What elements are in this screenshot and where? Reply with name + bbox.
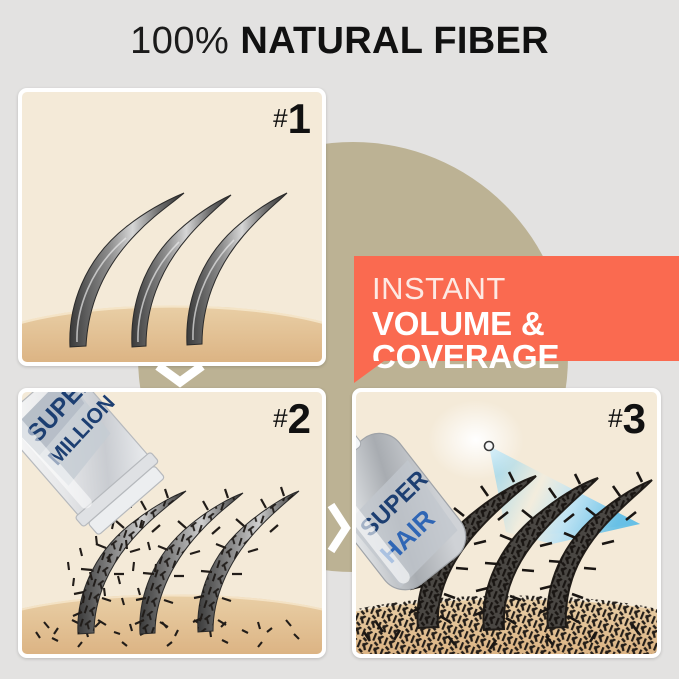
page-title: 100% NATURAL FIBER bbox=[0, 22, 679, 60]
nozzle-orifice bbox=[485, 442, 494, 451]
callout-banner-tail bbox=[354, 361, 384, 383]
title-main: NATURAL FIBER bbox=[240, 20, 549, 62]
chevron-down-icon bbox=[152, 362, 208, 388]
title-percent: 100% bbox=[130, 20, 229, 62]
chevron-right-icon bbox=[326, 500, 352, 556]
callout-banner-text: INSTANT VOLUME & COVERAGE bbox=[372, 273, 679, 374]
callout-line-2: VOLUME & COVERAGE bbox=[372, 307, 679, 374]
infographic-root: 100% NATURAL FIBER bbox=[0, 0, 679, 679]
callout-banner: INSTANT VOLUME & COVERAGE bbox=[354, 256, 679, 361]
step-panel-1: #1 bbox=[18, 88, 326, 366]
step-panel-3: SUPER HAIR #3 bbox=[352, 388, 661, 658]
step-badge-2: #2 bbox=[273, 398, 310, 440]
step-panel-2: SUPER MILLION #2 bbox=[18, 388, 326, 658]
step-badge-1: #1 bbox=[273, 98, 310, 140]
step-badge-3: #3 bbox=[608, 398, 645, 440]
callout-line-1: INSTANT bbox=[372, 273, 679, 305]
